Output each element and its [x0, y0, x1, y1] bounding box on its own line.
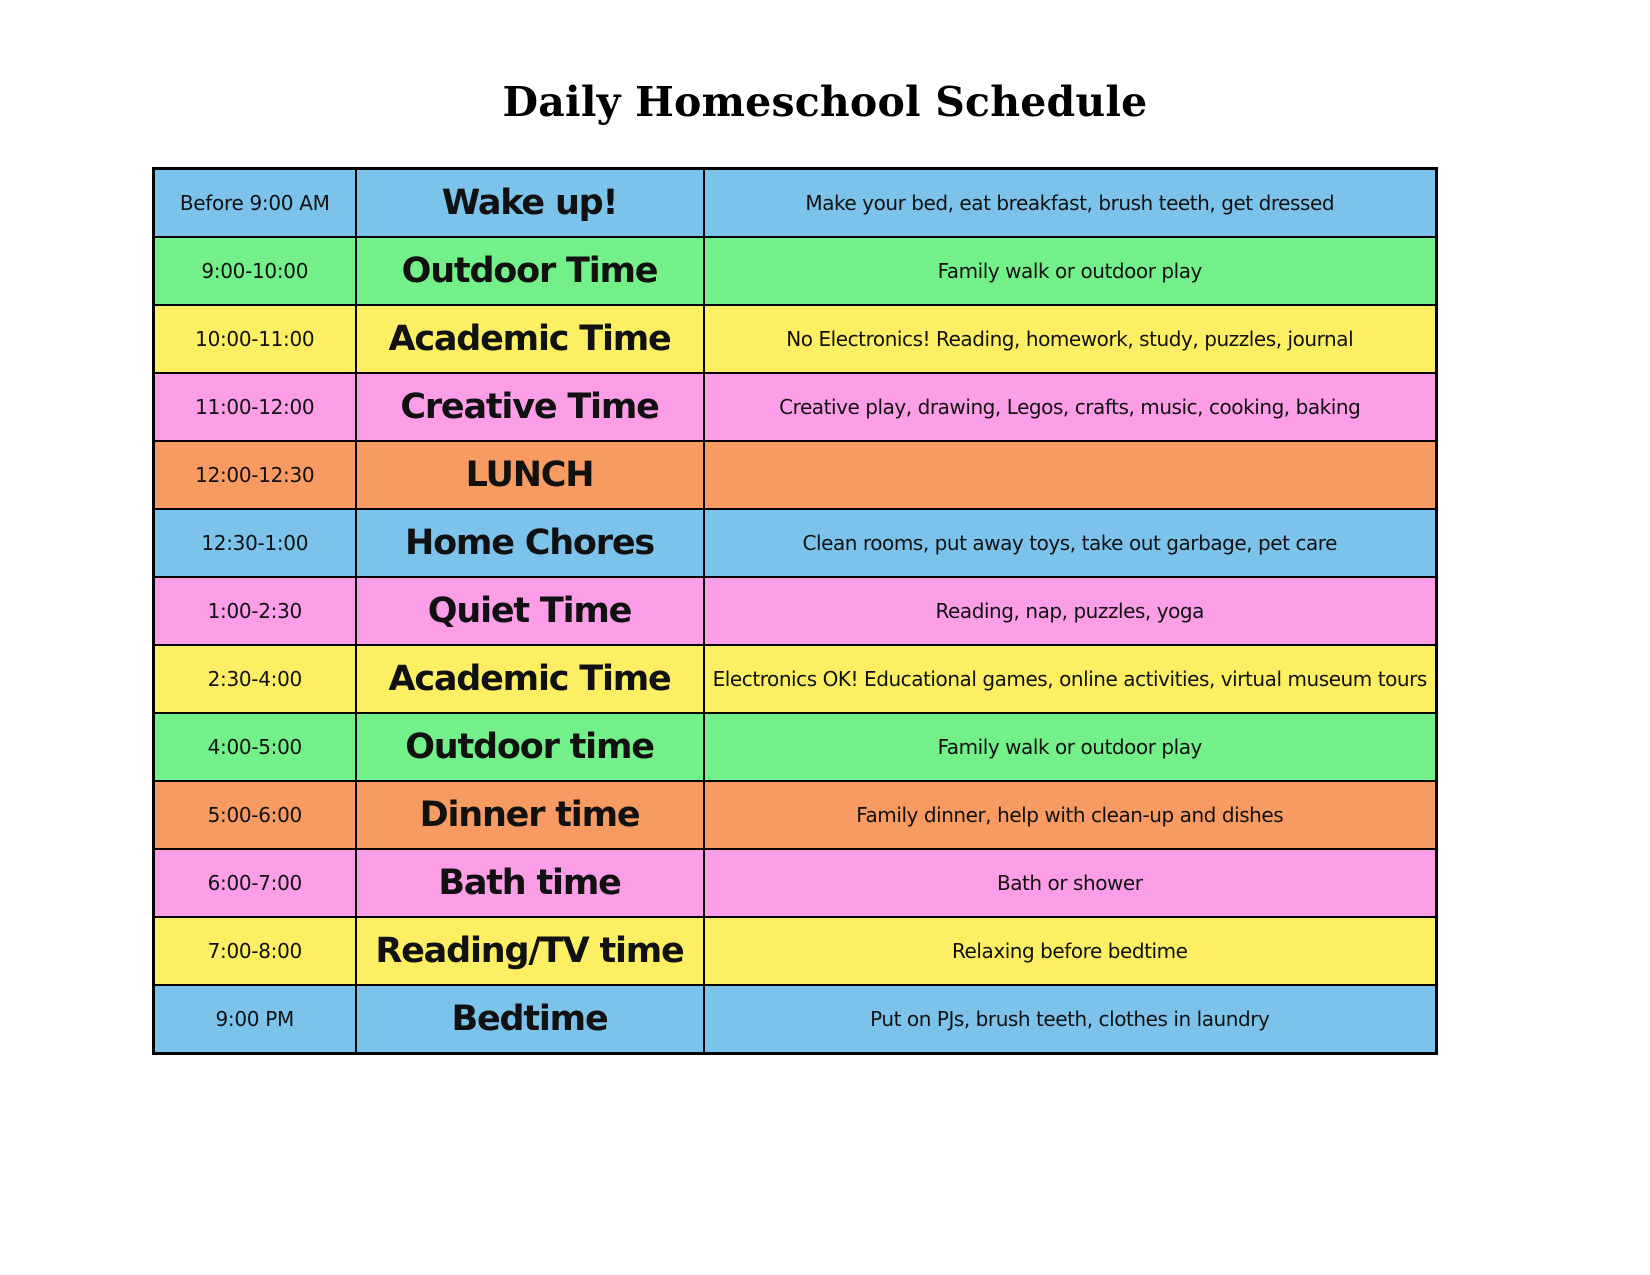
schedule-time-cell: 2:30-4:00	[154, 645, 356, 713]
schedule-description-cell	[704, 441, 1437, 509]
schedule-time-cell: 6:00-7:00	[154, 849, 356, 917]
schedule-activity-cell: Home Chores	[356, 509, 704, 577]
schedule-time-cell: 11:00-12:00	[154, 373, 356, 441]
schedule-activity-cell: Outdoor Time	[356, 237, 704, 305]
schedule-time-cell: 5:00-6:00	[154, 781, 356, 849]
schedule-description-cell: Reading, nap, puzzles, yoga	[704, 577, 1437, 645]
page-title: Daily Homeschool Schedule	[0, 78, 1650, 126]
table-row: 2:30-4:00Academic TimeElectronics OK! Ed…	[154, 645, 1437, 713]
schedule-activity-cell: Bath time	[356, 849, 704, 917]
schedule-time-cell: 12:30-1:00	[154, 509, 356, 577]
table-row: 6:00-7:00Bath timeBath or shower	[154, 849, 1437, 917]
schedule-activity-cell: LUNCH	[356, 441, 704, 509]
table-row: 9:00 PMBedtimePut on PJs, brush teeth, c…	[154, 985, 1437, 1054]
table-row: Before 9:00 AMWake up!Make your bed, eat…	[154, 169, 1437, 238]
schedule-activity-cell: Quiet Time	[356, 577, 704, 645]
schedule-description-cell: Put on PJs, brush teeth, clothes in laun…	[704, 985, 1437, 1054]
table-row: 12:30-1:00Home ChoresClean rooms, put aw…	[154, 509, 1437, 577]
table-row: 11:00-12:00Creative TimeCreative play, d…	[154, 373, 1437, 441]
table-row: 12:00-12:30LUNCH	[154, 441, 1437, 509]
schedule-description-cell: Family walk or outdoor play	[704, 237, 1437, 305]
table-row: 7:00-8:00Reading/TV timeRelaxing before …	[154, 917, 1437, 985]
schedule-activity-cell: Academic Time	[356, 645, 704, 713]
schedule-activity-cell: Bedtime	[356, 985, 704, 1054]
schedule-activity-cell: Academic Time	[356, 305, 704, 373]
schedule-description-cell: Electronics OK! Educational games, onlin…	[704, 645, 1437, 713]
table-row: 10:00-11:00Academic TimeNo Electronics! …	[154, 305, 1437, 373]
schedule-description-cell: Bath or shower	[704, 849, 1437, 917]
schedule-description-cell: Family dinner, help with clean-up and di…	[704, 781, 1437, 849]
schedule-time-cell: 1:00-2:30	[154, 577, 356, 645]
schedule-description-cell: Creative play, drawing, Legos, crafts, m…	[704, 373, 1437, 441]
schedule-time-cell: 12:00-12:30	[154, 441, 356, 509]
table-row: 4:00-5:00Outdoor timeFamily walk or outd…	[154, 713, 1437, 781]
schedule-activity-cell: Wake up!	[356, 169, 704, 238]
schedule-description-cell: Make your bed, eat breakfast, brush teet…	[704, 169, 1437, 238]
schedule-activity-cell: Dinner time	[356, 781, 704, 849]
schedule-activity-cell: Reading/TV time	[356, 917, 704, 985]
table-row: 5:00-6:00Dinner timeFamily dinner, help …	[154, 781, 1437, 849]
schedule-table-body: Before 9:00 AMWake up!Make your bed, eat…	[154, 169, 1437, 1054]
schedule-time-cell: 10:00-11:00	[154, 305, 356, 373]
daily-schedule-table: Before 9:00 AMWake up!Make your bed, eat…	[152, 167, 1438, 1055]
schedule-time-cell: Before 9:00 AM	[154, 169, 356, 238]
schedule-activity-cell: Outdoor time	[356, 713, 704, 781]
schedule-description-cell: Relaxing before bedtime	[704, 917, 1437, 985]
schedule-table-container: Before 9:00 AMWake up!Make your bed, eat…	[152, 167, 1435, 1055]
table-row: 9:00-10:00Outdoor TimeFamily walk or out…	[154, 237, 1437, 305]
schedule-activity-cell: Creative Time	[356, 373, 704, 441]
schedule-time-cell: 7:00-8:00	[154, 917, 356, 985]
schedule-time-cell: 4:00-5:00	[154, 713, 356, 781]
schedule-description-cell: Clean rooms, put away toys, take out gar…	[704, 509, 1437, 577]
schedule-time-cell: 9:00-10:00	[154, 237, 356, 305]
schedule-description-cell: No Electronics! Reading, homework, study…	[704, 305, 1437, 373]
schedule-page: Daily Homeschool Schedule Before 9:00 AM…	[0, 0, 1650, 1275]
table-row: 1:00-2:30Quiet TimeReading, nap, puzzles…	[154, 577, 1437, 645]
schedule-time-cell: 9:00 PM	[154, 985, 356, 1054]
schedule-description-cell: Family walk or outdoor play	[704, 713, 1437, 781]
